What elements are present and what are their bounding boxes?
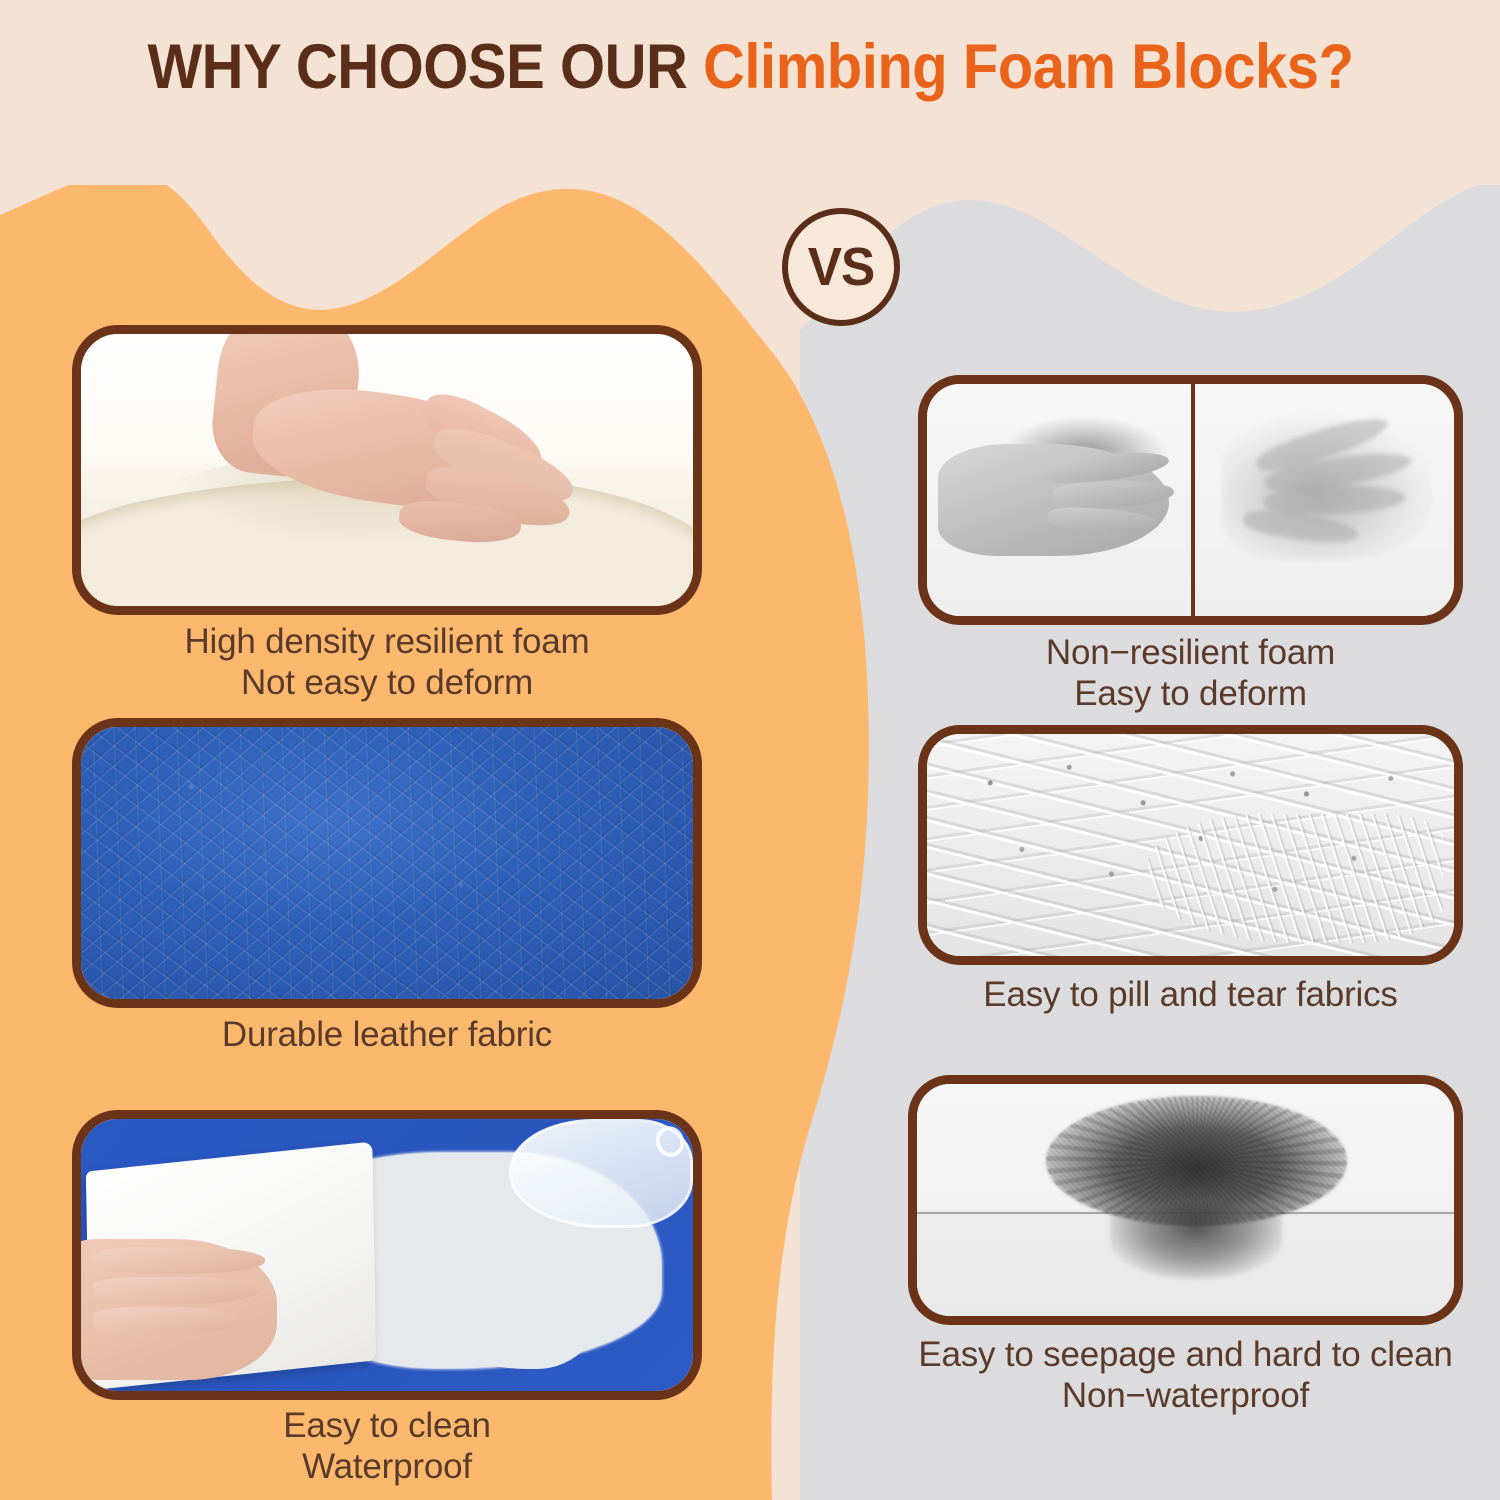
vs-badge: VS (782, 208, 900, 326)
card-waterproof-easy-clean (72, 1110, 702, 1400)
art-non-resilient-foam (927, 384, 1454, 616)
art-spill-clean (81, 1119, 693, 1391)
art-pilled-fabric (927, 734, 1454, 956)
header-banner: WHY CHOOSE OUR Climbing Foam Blocks? (0, 0, 1500, 185)
caption-durable-leather-fabric: Durable leather fabric (72, 1015, 702, 1056)
wiping-finger-3 (93, 1307, 240, 1334)
title-part-one: WHY CHOOSE OUR (147, 32, 703, 102)
card-liquid-seepage (908, 1075, 1463, 1325)
caption-easy-seepage-non-waterproof: Easy to seepage and hard to clean Non−wa… (908, 1335, 1463, 1416)
card-pilled-torn-fabric (918, 725, 1463, 965)
milk-spill-lobe (424, 1239, 608, 1370)
art-leather-texture (81, 727, 693, 999)
wiping-finger-2 (93, 1277, 258, 1304)
infographic-root: WHY CHOOSE OUR Climbing Foam Blocks? VS … (0, 0, 1500, 1500)
split-divider (1191, 384, 1195, 616)
card-non-resilient-foam (918, 375, 1463, 625)
torn-fibers (1148, 814, 1443, 943)
card-hand-pressing-resilient-foam (72, 325, 702, 615)
art-resilient-foam (81, 334, 693, 606)
caption-high-density-resilient-foam: High density resilient foam Not easy to … (72, 622, 702, 703)
stain-underside (1110, 1205, 1282, 1279)
caption-easy-pill-tear: Easy to pill and tear fabrics (918, 975, 1463, 1016)
art-seepage-stain (917, 1084, 1454, 1316)
page-title: WHY CHOOSE OUR Climbing Foam Blocks? (147, 31, 1353, 155)
caption-easy-to-clean-waterproof: Easy to clean Waterproof (72, 1406, 702, 1487)
title-part-two: Climbing Foam Blocks? (703, 32, 1354, 102)
caption-non-resilient-foam: Non−resilient foam Easy to deform (918, 633, 1463, 714)
vs-badge-label: VS (808, 236, 875, 298)
glass-jar (509, 1119, 693, 1228)
wiping-finger-1 (93, 1247, 264, 1274)
card-blue-leather-fabric (72, 718, 702, 1008)
